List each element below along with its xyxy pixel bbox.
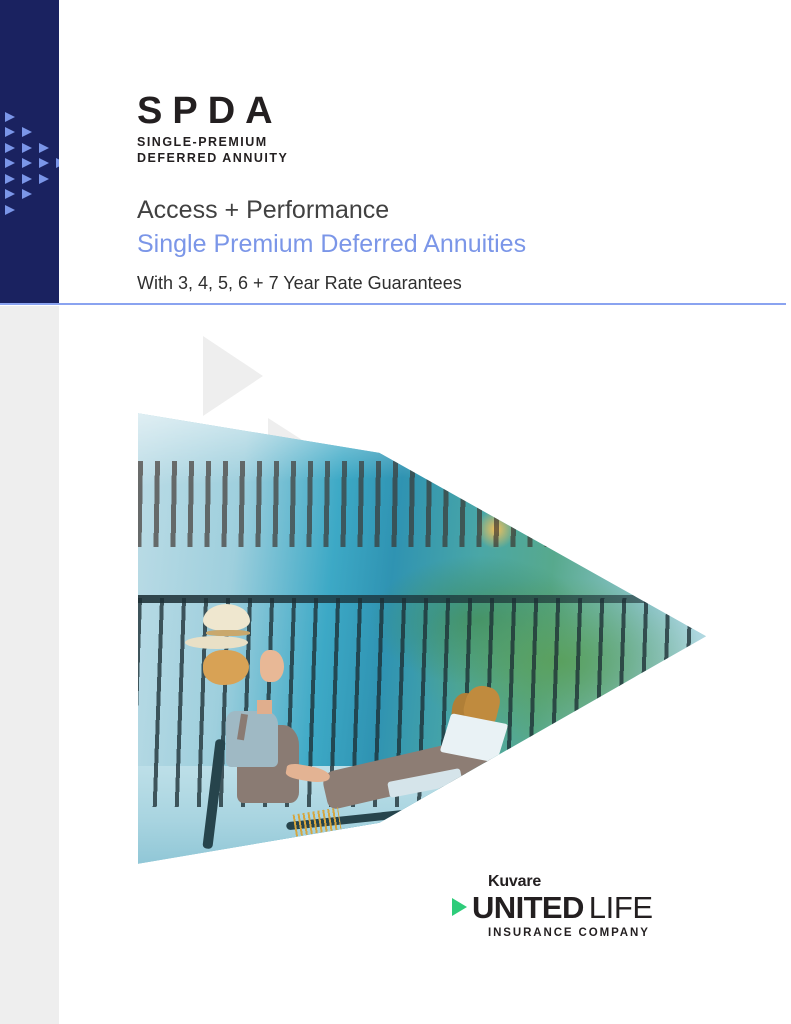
triangle-right-icon: [39, 158, 49, 168]
sidebar-triangle-pattern: [0, 96, 59, 226]
navy-sidebar: [0, 0, 59, 303]
triangle-right-icon: [22, 174, 32, 184]
headline-line1: Access + Performance: [137, 194, 757, 228]
accent-triangle-upper-icon: [203, 336, 263, 416]
header-divider-rule: [0, 303, 786, 305]
photo-face: [260, 650, 284, 682]
triangle-right-icon: [5, 189, 15, 199]
product-expansion-line2: DEFERRED ANNUITY: [137, 151, 757, 167]
triangle-right-icon: [22, 143, 32, 153]
triangle-right-icon: [5, 112, 15, 122]
triangle-right-icon: [22, 158, 32, 168]
cover-page: SPDA SINGLE-PREMIUM DEFERRED ANNUITY Acc…: [0, 0, 791, 1024]
triangle-right-icon: [5, 143, 15, 153]
logo-name-light: LIFE: [589, 892, 653, 923]
company-logo: Kuvare UNITED LIFE INSURANCE COMPANY: [452, 873, 672, 939]
photo-hat-crown: [203, 604, 250, 631]
triangle-right-icon: [5, 127, 15, 137]
triangle-right-icon: [39, 174, 49, 184]
logo-brand-top: Kuvare: [488, 873, 672, 891]
product-acronym: SPDA: [137, 92, 757, 130]
cover-photo-image: [138, 411, 706, 866]
logo-name-bold: UNITED: [472, 892, 584, 923]
triangle-right-icon: [5, 158, 15, 168]
photo-neck: [257, 700, 272, 714]
cover-photo: [138, 411, 706, 866]
logo-name-row: UNITED LIFE: [452, 892, 672, 923]
headline-line3: With 3, 4, 5, 6 + 7 Year Rate Guarantees: [137, 272, 757, 295]
gray-sidebar-strip: [0, 306, 59, 1024]
triangle-right-icon: [22, 189, 32, 199]
photo-background-fence: [138, 461, 604, 547]
triangle-right-icon: [5, 205, 15, 215]
logo-tagline: INSURANCE COMPANY: [488, 927, 672, 940]
header-text-block: SPDA SINGLE-PREMIUM DEFERRED ANNUITY Acc…: [137, 92, 757, 296]
photo-torso: [226, 711, 278, 767]
headline-line2: Single Premium Deferred Annuities: [137, 228, 757, 262]
triangle-right-icon: [22, 127, 32, 137]
product-expansion-line1: SINGLE-PREMIUM: [137, 135, 757, 151]
triangle-right-icon: [56, 158, 59, 168]
triangle-right-icon: [5, 174, 15, 184]
triangle-right-icon: [452, 898, 467, 916]
triangle-right-icon: [39, 143, 49, 153]
photo-hat-band: [206, 630, 250, 636]
